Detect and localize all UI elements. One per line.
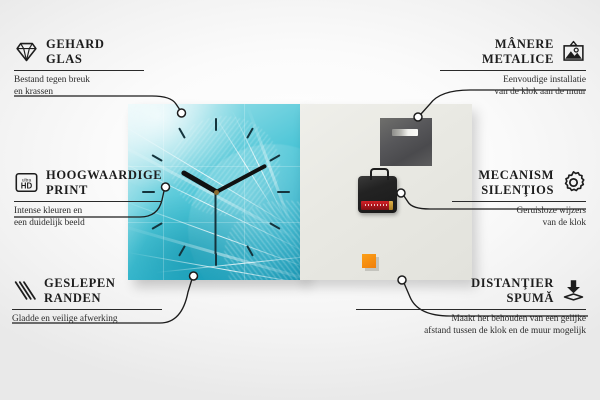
feature-title-line2: PRINT	[46, 183, 162, 198]
svg-text:HD: HD	[21, 182, 33, 191]
feature-sub-line1: Intense kleuren en	[14, 205, 162, 218]
feature-subtitle: Gladde en veilige afwerking	[12, 313, 162, 326]
feature-title-line1: DISTANŢIER	[356, 276, 554, 291]
feature-manere-metalice: MÂNERE METALICE Eenvoudige installatie v…	[440, 37, 586, 99]
feature-header: GEHARD GLAS	[14, 37, 144, 67]
feature-title: GESLEPEN RANDEN	[44, 276, 116, 306]
feature-subtitle: Intense kleuren en een duidelijk beeld	[14, 205, 162, 230]
feature-title-line1: MECANISM	[452, 168, 554, 183]
feature-divider	[12, 309, 162, 310]
diamond-icon	[14, 39, 39, 64]
feature-divider	[14, 70, 144, 71]
feature-sub-line2: van de klok aan de muur	[440, 86, 586, 99]
feature-sub-line1: Gladde en veilige afwerking	[12, 313, 162, 326]
feature-sub-line1: Maakt het behouden van een gelijke	[356, 313, 586, 326]
ultra-hd-icon: ultra HD	[14, 170, 39, 195]
picture-frame-hanger-icon	[561, 39, 586, 64]
feature-gehard-glas: GEHARD GLAS Bestand tegen breuk en krass…	[14, 37, 144, 99]
feature-title-line1: MÂNERE	[440, 37, 554, 52]
feature-subtitle: Maakt het behouden van een gelijke afsta…	[356, 313, 586, 338]
feature-title: MECANISM SILENŢIOS	[452, 168, 554, 198]
feature-title-line2: SPUMĂ	[356, 291, 554, 306]
feature-divider	[356, 309, 586, 310]
feature-title: GEHARD GLAS	[46, 37, 104, 67]
beveled-edges-icon	[12, 278, 37, 303]
connector-dot-randen	[190, 272, 198, 280]
feature-geslepen-randen: GESLEPEN RANDEN Gladde en veilige afwerk…	[12, 276, 162, 325]
connector-dot-mecanism	[397, 189, 405, 197]
gear-icon	[561, 170, 586, 195]
feature-sub-line2: en krassen	[14, 86, 144, 99]
feature-hoogwaardige-print: ultra HD HOOGWAARDIGE PRINT Intense kleu…	[14, 168, 162, 230]
feature-title: DISTANŢIER SPUMĂ	[356, 276, 554, 306]
feature-header: MECANISM SILENŢIOS	[452, 168, 586, 198]
feature-mecanism-silentios: MECANISM SILENŢIOS Geruisloze wijzers va…	[452, 168, 586, 230]
feature-sub-line1: Eenvoudige installatie	[440, 74, 586, 87]
feature-divider	[452, 201, 586, 202]
feature-sub-line2: een duidelijk beeld	[14, 217, 162, 230]
feature-header: DISTANŢIER SPUMĂ	[356, 276, 586, 306]
connector-dot-gehard-glas	[178, 109, 186, 117]
feature-title: MÂNERE METALICE	[440, 37, 554, 67]
connector-dot-print	[162, 183, 170, 191]
feature-title-line2: GLAS	[46, 52, 104, 67]
feature-title-line1: GEHARD	[46, 37, 104, 52]
feature-sub-line2: afstand tussen de klok en de muur mogeli…	[356, 325, 586, 338]
feature-divider	[440, 70, 586, 71]
feature-header: MÂNERE METALICE	[440, 37, 586, 67]
connector-dot-manere	[414, 113, 422, 121]
infographic-canvas: GEHARD GLAS Bestand tegen breuk en krass…	[0, 0, 600, 400]
feature-sub-line2: van de klok	[452, 217, 586, 230]
feature-title: HOOGWAARDIGE PRINT	[46, 168, 162, 198]
feature-subtitle: Geruisloze wijzers van de klok	[452, 205, 586, 230]
feature-distantier-spuma: DISTANŢIER SPUMĂ Maakt het behouden van …	[356, 276, 586, 338]
feature-divider	[14, 201, 162, 202]
feature-subtitle: Eenvoudige installatie van de klok aan d…	[440, 74, 586, 99]
spacer-arrow-icon	[561, 278, 586, 303]
feature-title-line2: RANDEN	[44, 291, 116, 306]
feature-title-line1: GESLEPEN	[44, 276, 116, 291]
feature-subtitle: Bestand tegen breuk en krassen	[14, 74, 144, 99]
feature-header: ultra HD HOOGWAARDIGE PRINT	[14, 168, 162, 198]
feature-title-line1: HOOGWAARDIGE	[46, 168, 162, 183]
feature-header: GESLEPEN RANDEN	[12, 276, 162, 306]
feature-sub-line1: Geruisloze wijzers	[452, 205, 586, 218]
feature-sub-line1: Bestand tegen breuk	[14, 74, 144, 87]
feature-title-line2: SILENŢIOS	[452, 183, 554, 198]
feature-title-line2: METALICE	[440, 52, 554, 67]
